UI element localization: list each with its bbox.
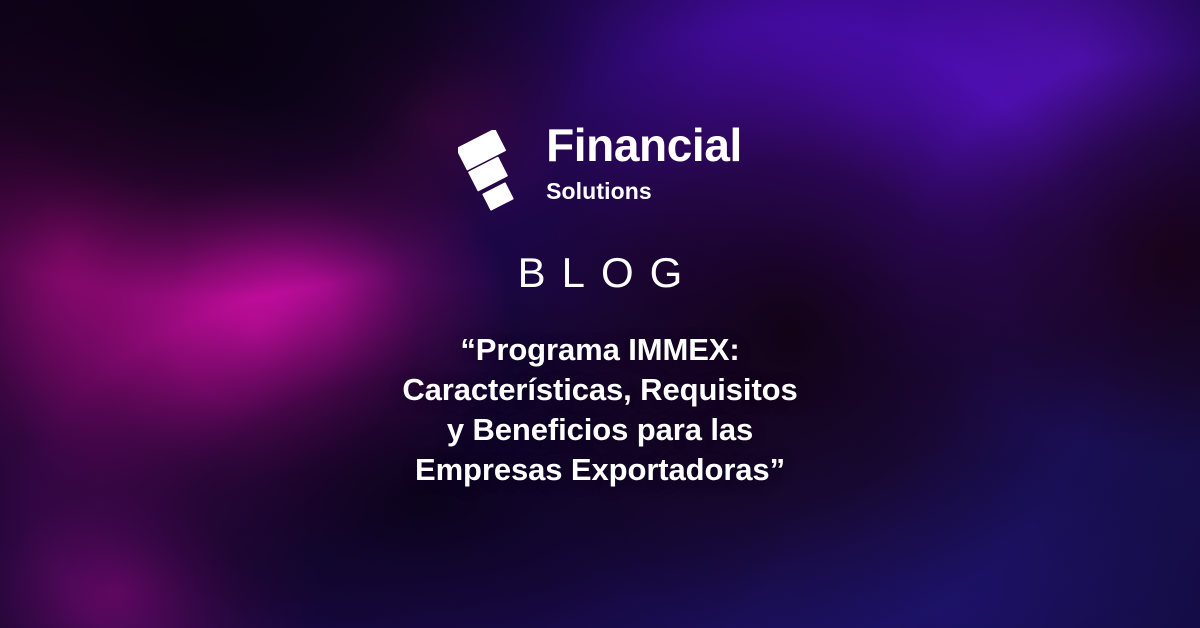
post-title-line-4: Empresas Exportadoras” [180,450,1020,490]
brand-lockup-inner: Financial Solutions [458,122,742,218]
brand-tagline: Solutions [546,179,652,204]
card-content: Financial Solutions BLOG “Programa IMMEX… [0,0,1200,628]
blog-social-card: Financial Solutions BLOG “Programa IMMEX… [0,0,1200,628]
brand-name: Financial [546,122,742,170]
post-title-line-2: Características, Requisitos [180,370,1020,410]
brand-lockup: Financial Solutions [0,122,1200,218]
brand-wordmark: Financial Solutions [546,122,742,204]
blog-eyebrow-label: BLOG [0,252,1200,294]
post-title-line-1: “Programa IMMEX: [180,330,1020,370]
post-title: “Programa IMMEX: Características, Requis… [0,330,1200,490]
financial-solutions-logo-icon [458,130,520,218]
post-title-line-3: y Beneficios para las [180,410,1020,450]
